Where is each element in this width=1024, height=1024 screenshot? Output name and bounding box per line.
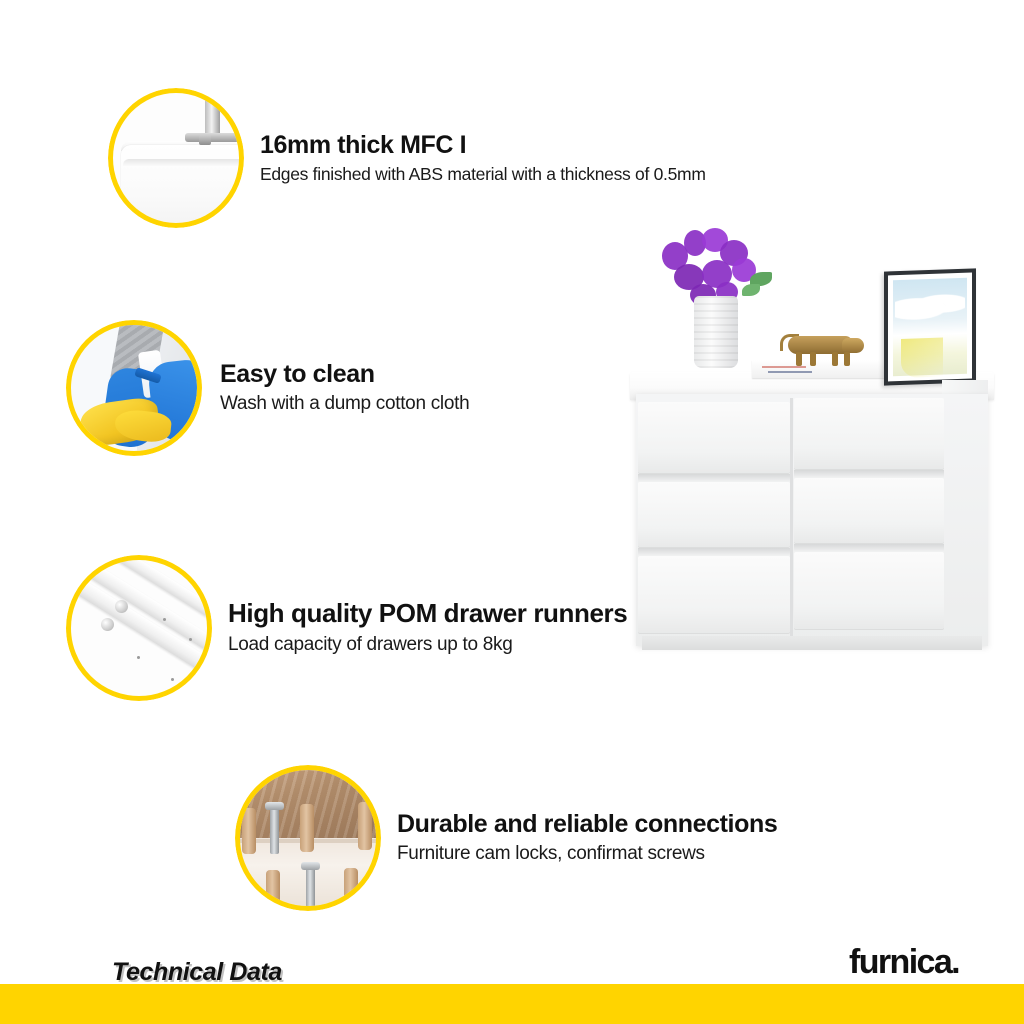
feature-clean-image-circle [66,320,202,456]
drawer-gap [638,474,790,482]
drawer [794,478,944,544]
feature-mfc-subtitle: Edges finished with ABS material with a … [260,164,706,184]
feature-mfc-image-circle [108,88,244,228]
feature-runners-subtitle: Load capacity of drawers up to 8kg [228,634,627,656]
dowels-and-screws-photo [240,770,376,906]
feature-runners-title: High quality POM drawer runners [228,600,627,627]
feature-runners: High quality POM drawer runners Load cap… [66,555,627,701]
drawer [638,556,790,634]
feature-connections: Durable and reliable connections Furnitu… [235,765,777,911]
furnica-logo: furnica. [849,943,959,982]
feature-clean-title: Easy to clean [220,361,469,387]
board-edge-caliper-photo [113,93,239,223]
feature-connections-title: Durable and reliable connections [397,811,777,837]
panther-figurine [780,332,866,364]
drawer-gap [638,548,790,556]
chest-plinth [642,636,982,650]
footer-yellow-band [0,984,1024,1024]
feature-connections-subtitle: Furniture cam locks, confirmat screws [397,843,777,865]
feature-clean-subtitle: Wash with a dump cotton cloth [220,393,469,415]
infographic-page: 16mm thick MFC I Edges finished with ABS… [0,0,1024,1024]
drawer-gap [794,470,944,478]
feature-connections-image-circle [235,765,381,911]
technical-data-label: Technical Data [112,958,282,987]
drawer-column-split [790,398,793,636]
feature-mfc: 16mm thick MFC I Edges finished with ABS… [108,88,706,228]
drawer-gap [794,544,944,552]
drawer-runners-photo [71,560,207,696]
feature-runners-image-circle [66,555,212,701]
vase [694,296,738,368]
drawer [794,552,944,630]
framed-artwork [884,268,976,385]
feature-clean: Easy to clean Wash with a dump cotton cl… [66,320,469,456]
feature-mfc-title: 16mm thick MFC I [260,132,706,158]
drawer [638,482,790,548]
gloved-hands-spray-cloth-photo [71,325,197,451]
drawer [794,398,944,470]
product-photo [612,222,1012,660]
drawer [638,402,790,474]
